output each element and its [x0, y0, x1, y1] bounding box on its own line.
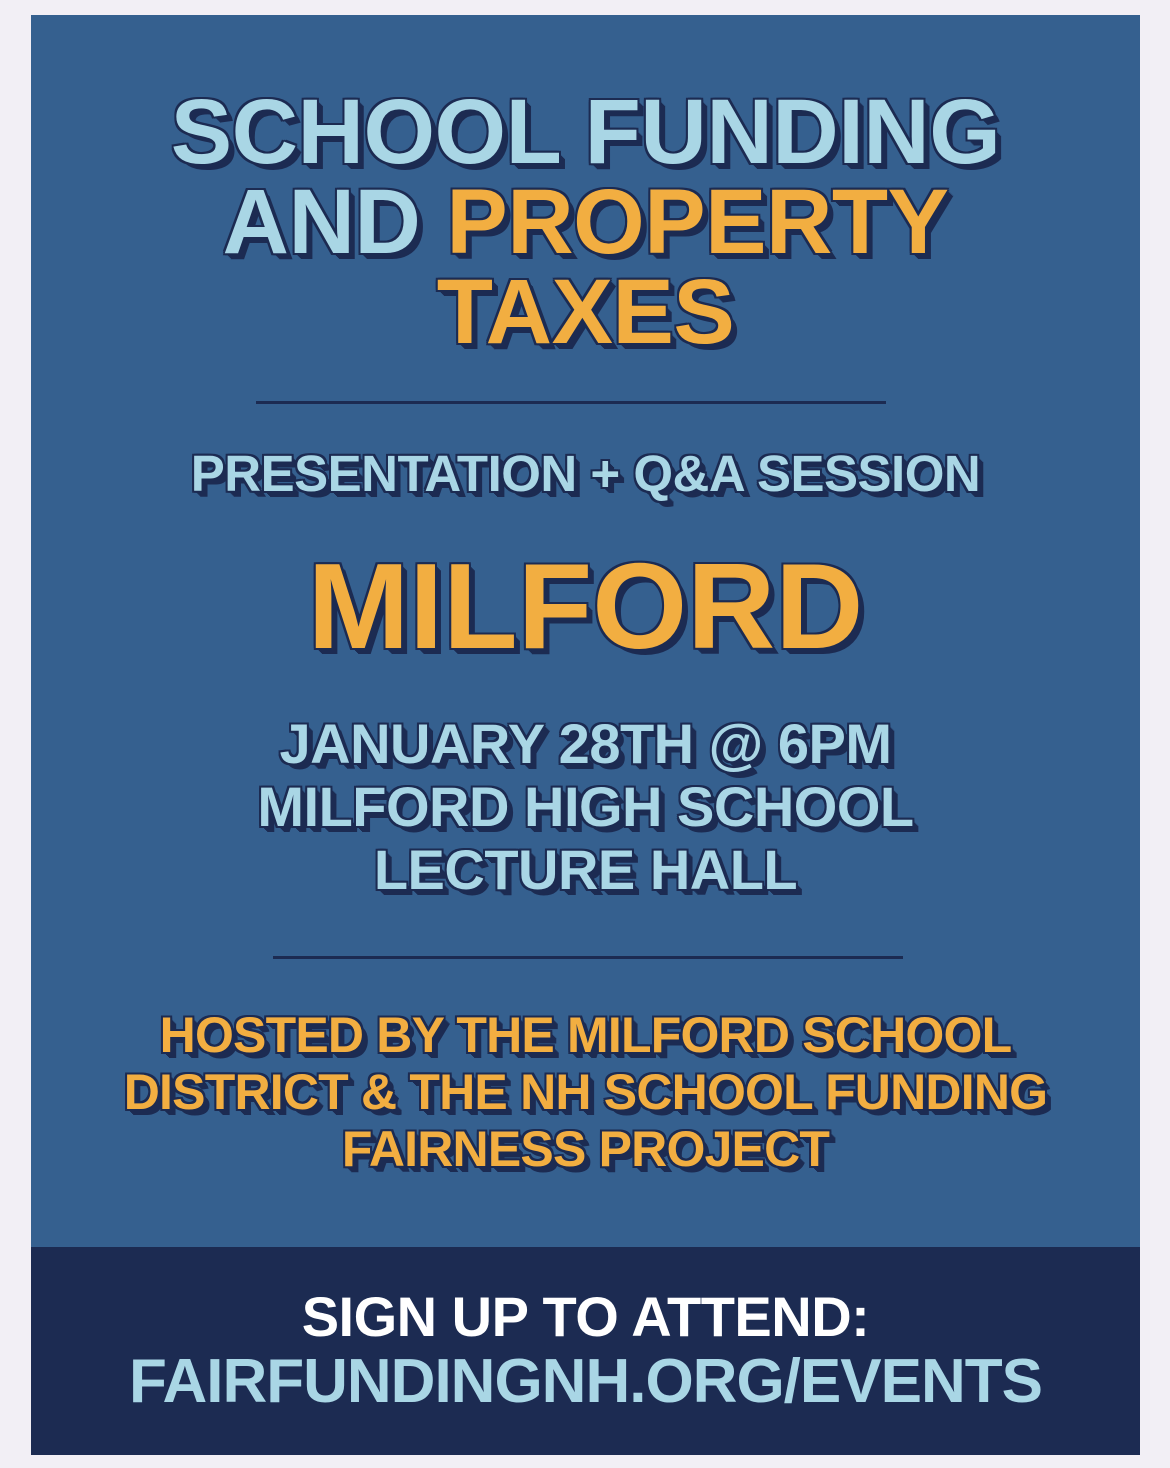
town-name: MILFORD: [49, 499, 1122, 667]
event-details: JANUARY 28TH @ 6PM MILFORD HIGH SCHOOL L…: [49, 667, 1122, 901]
page-title: SCHOOL FUNDING ANDPROPERTY TAXES: [49, 15, 1122, 357]
signup-cta: SIGN UP TO ATTEND:: [302, 1288, 870, 1346]
signup-url[interactable]: FAIRFUNDINGNH.ORG/EVENTS: [129, 1346, 1042, 1414]
signup-footer: SIGN UP TO ATTEND: FAIRFUNDINGNH.ORG/EVE…: [31, 1247, 1140, 1455]
headline-and: AND: [223, 171, 421, 273]
event-date-time: JANUARY 28TH @ 6PM: [49, 713, 1122, 776]
headline-property: PROPERTY: [446, 171, 948, 273]
hosted-by: HOSTED BY THE MILFORD SCHOOL DISTRICT & …: [49, 959, 1122, 1178]
subtitle: PRESENTATION + Q&A SESSION: [49, 404, 1122, 499]
poster-page: SCHOOL FUNDING ANDPROPERTY TAXES PRESENT…: [0, 0, 1170, 1468]
event-venue: MILFORD HIGH SCHOOL: [49, 776, 1122, 839]
hosted-by-line-2: DISTRICT & THE NH SCHOOL FUNDING: [49, 1064, 1122, 1121]
hosted-by-line-3: FAIRNESS PROJECT: [49, 1121, 1122, 1178]
hosted-by-line-1: HOSTED BY THE MILFORD SCHOOL: [49, 1007, 1122, 1064]
headline-line-2: ANDPROPERTY: [49, 177, 1122, 267]
headline-line-1: SCHOOL FUNDING: [49, 87, 1122, 177]
event-poster: SCHOOL FUNDING ANDPROPERTY TAXES PRESENT…: [31, 15, 1140, 1455]
event-room: LECTURE HALL: [49, 839, 1122, 902]
details-spacer: [49, 902, 1122, 956]
headline-taxes: TAXES: [49, 267, 1122, 357]
poster-content: SCHOOL FUNDING ANDPROPERTY TAXES PRESENT…: [31, 15, 1140, 1247]
